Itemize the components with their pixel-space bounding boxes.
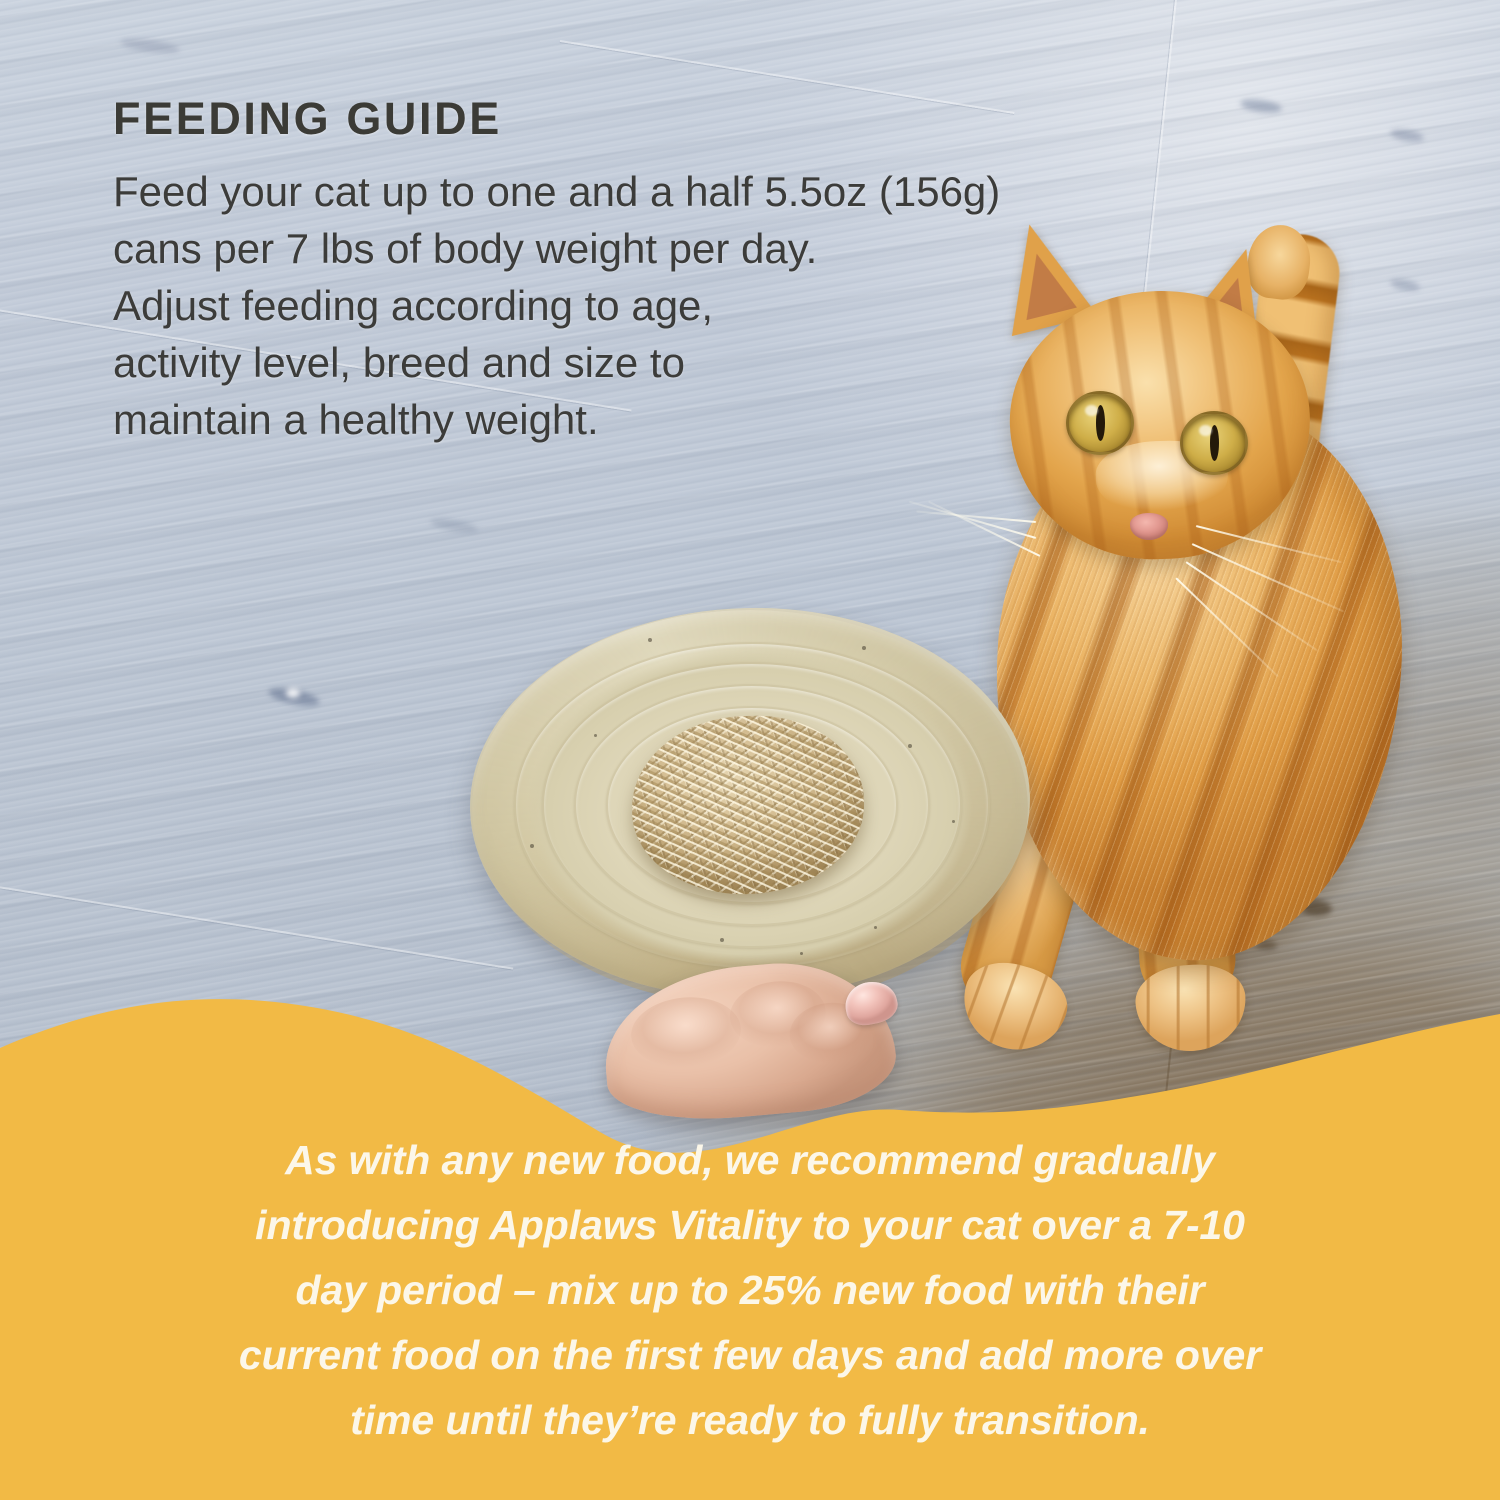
- transition-advice-text: As with any new food, we recommend gradu…: [72, 1128, 1428, 1453]
- plate-speck: [952, 820, 955, 823]
- plate-speck: [800, 952, 803, 955]
- plate-with-food: [470, 608, 1030, 1008]
- feeding-instructions-line: Adjust feeding according to age,: [113, 277, 1288, 334]
- feeding-instructions: Feed your cat up to one and a half 5.5oz…: [113, 163, 1288, 448]
- feeding-instructions-line: maintain a healthy weight.: [113, 391, 1288, 448]
- transition-advice-line: introducing Applaws Vitality to your cat…: [72, 1193, 1428, 1258]
- transition-advice-line: time until they’re ready to fully transi…: [72, 1388, 1428, 1453]
- shredded-chicken-food: [629, 712, 867, 898]
- plate-speck: [530, 844, 534, 848]
- transition-advice-line: day period – mix up to 25% new food with…: [72, 1258, 1428, 1323]
- feeding-instructions-line: Feed your cat up to one and a half 5.5oz…: [113, 163, 1288, 220]
- floor-knot-mark: [286, 688, 300, 698]
- transition-advice-line: As with any new food, we recommend gradu…: [72, 1128, 1428, 1193]
- plate-speck: [862, 646, 866, 650]
- transition-advice-line: current food on the first few days and a…: [72, 1323, 1428, 1388]
- transition-advice-banner: As with any new food, we recommend gradu…: [0, 980, 1500, 1500]
- feeding-instructions-line: cans per 7 lbs of body weight per day.: [113, 220, 1288, 277]
- plate-speck: [908, 744, 912, 748]
- food-shred-texture: [629, 712, 867, 898]
- plate-speck: [874, 926, 877, 929]
- feeding-instructions-line: activity level, breed and size to: [113, 334, 1288, 391]
- feeding-guide-panel: FEEDING GUIDE Feed your cat up to one an…: [0, 0, 1500, 1500]
- plate-speck: [720, 938, 724, 942]
- plate-speck: [594, 734, 597, 737]
- plate-speck: [648, 638, 652, 642]
- page-title: FEEDING GUIDE: [113, 96, 1293, 141]
- feeding-guide-text-block: FEEDING GUIDE Feed your cat up to one an…: [113, 96, 1293, 448]
